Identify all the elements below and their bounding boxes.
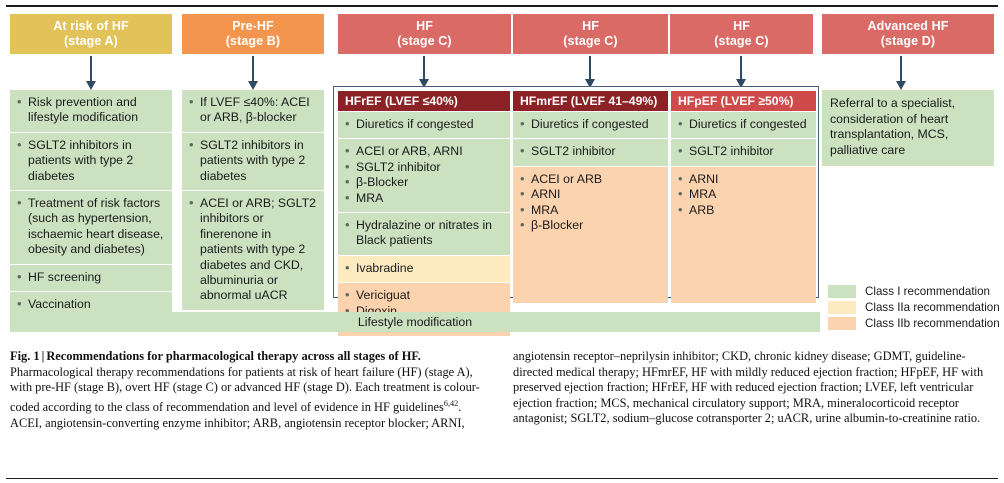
- treatment-block: SGLT2 inhibitors in patients with type 2…: [10, 133, 172, 191]
- stage-header-line2: (stage D): [881, 34, 935, 49]
- legend-item-class-iia: Class IIa recommendation: [828, 300, 1000, 315]
- treatment-item: ACEI or ARB; SGLT2 inhibitors or fineren…: [189, 196, 317, 304]
- stage-header-line1: Advanced HF: [868, 19, 949, 34]
- treatments-stage-b: If LVEF ≤40%: ACEI or ARB, β-blocker SGL…: [182, 90, 324, 310]
- lifestyle-modification-bar: Lifestyle modification: [10, 312, 820, 332]
- treatment-item: Hydralazine or nitrates in Black patient…: [345, 218, 503, 249]
- treatment-block: Diuretics if congested: [671, 112, 816, 139]
- treatment-block-advanced: Referral to a specialist, consideration …: [822, 90, 994, 166]
- treatment-block: SGLT2 inhibitor: [513, 139, 668, 166]
- stage-header-line1: HF: [416, 19, 433, 34]
- stage-header-hf-c3: HF (stage C): [670, 14, 813, 54]
- ef-body-hfmref: Diuretics if congested SGLT2 inhibitor A…: [513, 112, 668, 293]
- treatment-block: If LVEF ≤40%: ACEI or ARB, β-blocker: [182, 90, 324, 133]
- figure-caption: Fig. 1|Recommendations for pharmacologic…: [10, 349, 994, 431]
- arrow-stage-d: [900, 56, 902, 82]
- treatment-item: Vaccination: [17, 297, 165, 312]
- treatment-item: Diuretics if congested: [345, 117, 503, 132]
- treatment-block: HF screening: [10, 265, 172, 292]
- treatment-item: SGLT2 inhibitor: [678, 144, 809, 159]
- arrow-stage-c3: [740, 56, 742, 80]
- treatment-block: Hydralazine or nitrates in Black patient…: [338, 213, 510, 256]
- treatment-item: Vericiguat: [345, 288, 503, 303]
- legend-swatch-icon: [828, 317, 856, 330]
- treatment-item: ARB: [678, 203, 809, 218]
- stage-header-line1: HF: [582, 19, 599, 34]
- treatment-item: β-Blocker: [345, 175, 503, 190]
- treatment-item: SGLT2 inhibitors in patients with type 2…: [17, 138, 165, 184]
- treatments-stage-a: Risk prevention and lifestyle modificati…: [10, 90, 172, 318]
- stage-header-line1: Pre-HF: [232, 19, 274, 34]
- treatment-block: ACEI or ARB; SGLT2 inhibitors or fineren…: [182, 191, 324, 310]
- treatment-item: MRA: [345, 191, 503, 206]
- legend-label: Class IIb recommendation: [865, 317, 1000, 330]
- treatment-item: ACEI or ARB, ARNI: [345, 144, 503, 159]
- stage-header-line2: (stage C): [563, 34, 617, 49]
- stage-header-hf-c1: HF (stage C): [338, 14, 511, 54]
- treatment-item: Treatment of risk factors (such as hyper…: [17, 196, 165, 258]
- treatment-item: ACEI or ARB: [520, 172, 661, 187]
- column-stage-c-hfpef: HF (stage C): [670, 14, 813, 54]
- treatment-block: ARNI MRA ARB: [671, 167, 816, 303]
- legend: Class I recommendation Class IIa recomme…: [828, 284, 1000, 332]
- treatment-item: ARNI: [520, 187, 661, 202]
- treatment-block: Diuretics if congested: [513, 112, 668, 139]
- legend-label: Class I recommendation: [865, 285, 990, 298]
- ef-header-hfref: HFrEF (LVEF ≤40%): [338, 91, 510, 112]
- arrow-stage-a: [90, 56, 92, 82]
- figure-citation: 6,42: [444, 399, 458, 408]
- stage-header-line2: (stage B): [226, 34, 280, 49]
- legend-label: Class IIa recommendation: [865, 301, 1000, 314]
- treatment-block: SGLT2 inhibitors in patients with type 2…: [182, 133, 324, 191]
- treatment-item: SGLT2 inhibitors in patients with type 2…: [189, 138, 317, 184]
- treatment-item: ARNI: [678, 172, 809, 187]
- legend-item-class-i: Class I recommendation: [828, 284, 1000, 299]
- ef-body-hfref: Diuretics if congested ACEI or ARB, ARNI…: [338, 112, 510, 293]
- stage-header-line2: (stage A): [64, 34, 118, 49]
- treatment-item: MRA: [678, 187, 809, 202]
- treatments-stage-d: Referral to a specialist, consideration …: [822, 90, 994, 166]
- treatment-item: If LVEF ≤40%: ACEI or ARB, β-blocker: [189, 95, 317, 126]
- stage-header-at-risk: At risk of HF (stage A): [10, 14, 172, 54]
- treatment-item: Ivabradine: [345, 261, 503, 276]
- treatment-item: MRA: [520, 203, 661, 218]
- top-divider-rule: [6, 5, 998, 7]
- ef-body-hfpef: Diuretics if congested SGLT2 inhibitor A…: [671, 112, 816, 293]
- figure-caption-body-1: Pharmacological therapy recommendations …: [10, 365, 480, 414]
- figure-label: Fig. 1: [10, 349, 40, 363]
- stage-header-line1: HF: [733, 19, 750, 34]
- ef-column-hfmref: HFmrEF (LVEF 41–49%) Diuretics if conges…: [513, 91, 668, 293]
- legend-swatch-icon: [828, 301, 856, 314]
- treatment-item: β-Blocker: [520, 218, 661, 233]
- treatment-item: SGLT2 inhibitor: [345, 160, 503, 175]
- lifestyle-modification-label: Lifestyle modification: [358, 315, 472, 329]
- arrow-stage-c2: [589, 56, 591, 80]
- treatment-item: Diuretics if congested: [520, 117, 661, 132]
- treatment-item: Risk prevention and lifestyle modificati…: [17, 95, 165, 126]
- treatment-block: ACEI or ARB, ARNI SGLT2 inhibitor β-Bloc…: [338, 139, 510, 213]
- column-stage-b: Pre-HF (stage B): [182, 14, 324, 54]
- treatment-block: Ivabradine: [338, 256, 510, 283]
- legend-swatch-icon: [828, 285, 856, 298]
- stage-header-line2: (stage C): [397, 34, 451, 49]
- stage-header-pre-hf: Pre-HF (stage B): [182, 14, 324, 54]
- treatment-block: Risk prevention and lifestyle modificati…: [10, 90, 172, 133]
- figure-title: Recommendations for pharmacological ther…: [46, 349, 421, 363]
- treatment-item: Diuretics if congested: [678, 117, 809, 132]
- ef-column-hfref: HFrEF (LVEF ≤40%) Diuretics if congested…: [338, 91, 510, 293]
- column-stage-c-hfmref: HF (stage C): [513, 14, 668, 54]
- treatment-block: Treatment of risk factors (such as hyper…: [10, 191, 172, 265]
- figure-container: At risk of HF (stage A) Risk prevention …: [0, 0, 1004, 483]
- treatment-block: Diuretics if congested: [338, 112, 510, 139]
- treatment-block: SGLT2 inhibitor: [671, 139, 816, 166]
- ef-header-hfpef: HFpEF (LVEF ≥50%): [671, 91, 816, 112]
- ef-header-hfmref: HFmrEF (LVEF 41–49%): [513, 91, 668, 112]
- bottom-divider-rule: [6, 478, 998, 479]
- stage-header-line1: At risk of HF: [53, 19, 129, 34]
- stage-header-hf-c2: HF (stage C): [513, 14, 668, 54]
- treatment-item: SGLT2 inhibitor: [520, 144, 661, 159]
- arrow-stage-b: [252, 56, 254, 82]
- treatment-block: ACEI or ARB ARNI MRA β-Blocker: [513, 167, 668, 303]
- column-stage-c-hfref: HF (stage C): [338, 14, 511, 54]
- treatment-text: Referral to a specialist, consideration …: [830, 96, 955, 157]
- column-stage-d: Advanced HF (stage D): [822, 14, 994, 54]
- column-stage-a: At risk of HF (stage A): [10, 14, 172, 54]
- legend-item-class-iib: Class IIb recommendation: [828, 316, 1000, 331]
- stage-header-advanced-hf: Advanced HF (stage D): [822, 14, 994, 54]
- treatment-item: HF screening: [17, 270, 165, 285]
- stage-header-line2: (stage C): [714, 34, 768, 49]
- arrow-stage-c1: [423, 56, 425, 80]
- stage-c-frame: HFrEF (LVEF ≤40%) Diuretics if congested…: [333, 86, 819, 298]
- ef-column-hfpef: HFpEF (LVEF ≥50%) Diuretics if congested…: [671, 91, 816, 293]
